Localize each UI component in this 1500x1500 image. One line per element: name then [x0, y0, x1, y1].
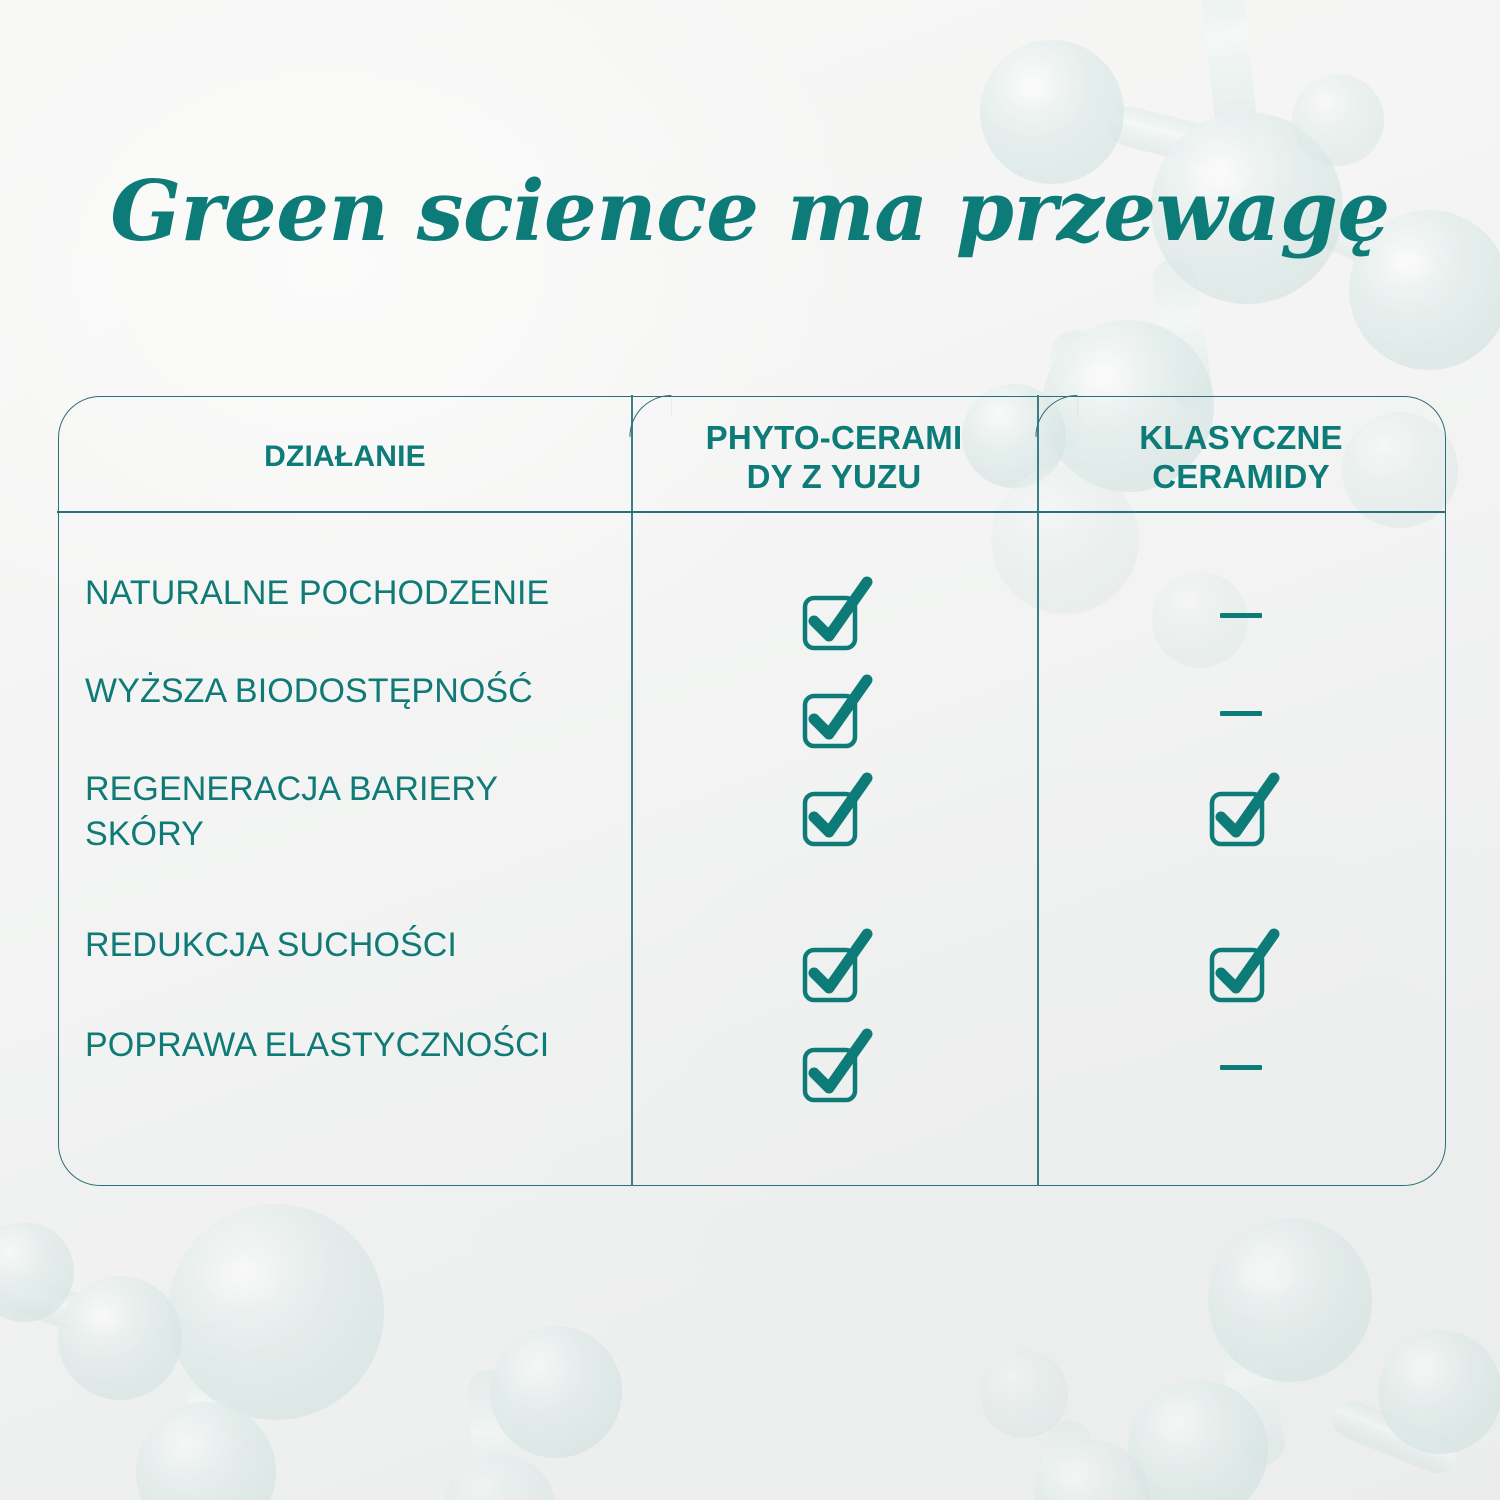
header-divider-rule: [57, 511, 1445, 513]
checked-checkbox-icon: [795, 1028, 873, 1106]
table-row: POPRAWA ELASTYCZNOŚCI: [59, 1017, 1447, 1117]
cell-phyto: [631, 565, 1037, 665]
row-label: REGENERACJA BARIERY SKÓRY: [85, 767, 565, 857]
table-row: REDUKCJA SUCHOŚCI: [59, 917, 1447, 1017]
checked-checkbox-icon: [795, 772, 873, 850]
row-label: NATURALNE POCHODZENIE: [85, 571, 625, 616]
cell-classic: [1037, 1017, 1445, 1117]
checked-checkbox-icon: [795, 576, 873, 654]
row-label: REDUKCJA SUCHOŚCI: [85, 923, 625, 968]
table-row: REGENERACJA BARIERY SKÓRY: [59, 761, 1447, 891]
table-header-label-line2: DY Z YUZU: [631, 458, 1037, 497]
page-title: Green science ma przewagę: [0, 162, 1500, 260]
table-header-phyto-ceramidy-z-yuzu: PHYTO-CERAMI DY Z YUZU: [631, 419, 1037, 497]
checked-checkbox-icon: [795, 928, 873, 1006]
table-row: NATURALNE POCHODZENIE: [59, 565, 1447, 665]
cell-classic: [1037, 761, 1445, 861]
dash-icon: [1220, 1065, 1262, 1070]
cell-classic: [1037, 663, 1445, 763]
table-header-label-line2: CERAMIDY: [1037, 458, 1445, 497]
table-header-label-line1: PHYTO-CERAMI: [631, 419, 1037, 458]
cell-classic: [1037, 565, 1445, 665]
table-row: WYŻSZA BIODOSTĘPNOŚĆ: [59, 663, 1447, 763]
cell-classic: [1037, 917, 1445, 1017]
cell-phyto: [631, 663, 1037, 763]
cell-phyto: [631, 917, 1037, 1017]
table-header-klasyczne-ceramidy: KLASYCZNE CERAMIDY: [1037, 419, 1445, 497]
table-header-label-line1: KLASYCZNE: [1037, 419, 1445, 458]
dash-icon: [1220, 613, 1262, 618]
checked-checkbox-icon: [1202, 772, 1280, 850]
checked-checkbox-icon: [795, 674, 873, 752]
table-header-label: DZIAŁANIE: [264, 440, 426, 473]
row-label: POPRAWA ELASTYCZNOŚCI: [85, 1023, 625, 1068]
comparison-table: DZIAŁANIE PHYTO-CERAMI DY Z YUZU KLASYCZ…: [58, 396, 1446, 1186]
row-label: WYŻSZA BIODOSTĘPNOŚĆ: [85, 669, 625, 714]
cell-phyto: [631, 761, 1037, 861]
checked-checkbox-icon: [1202, 928, 1280, 1006]
cell-phyto: [631, 1017, 1037, 1117]
dash-icon: [1220, 711, 1262, 716]
table-header-dzialanie: DZIAŁANIE: [59, 439, 631, 474]
